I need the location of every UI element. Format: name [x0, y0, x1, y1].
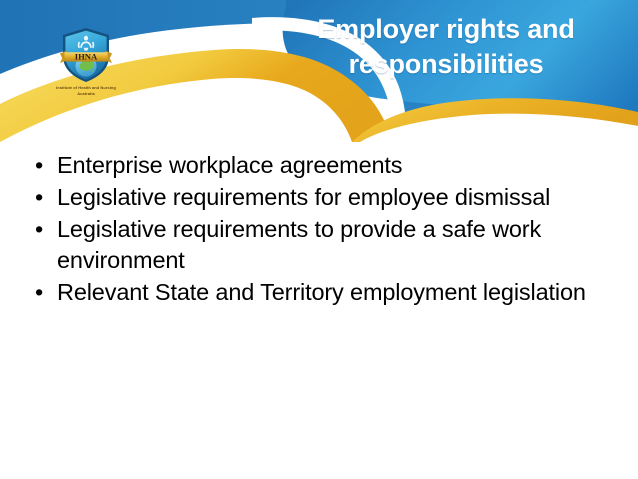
list-item: • Legislative requirements to provide a …: [28, 214, 618, 276]
bullet-glyph: •: [35, 150, 43, 181]
ihna-logo: IHNA Institute of Health and Nursing Aus…: [47, 26, 125, 102]
list-item: • Legislative requirements for employee …: [28, 182, 618, 213]
slide-body: • Enterprise workplace agreements • Legi…: [28, 150, 618, 309]
list-item-label: Enterprise workplace agreements: [57, 152, 402, 178]
list-item-label: Legislative requirements to provide a sa…: [57, 216, 541, 273]
list-item: • Relevant State and Territory employmen…: [28, 277, 618, 308]
bullet-list: • Enterprise workplace agreements • Legi…: [28, 150, 618, 308]
page-title: Employer rights and responsibilities: [268, 12, 624, 81]
presentation-slide: IHNA Institute of Health and Nursing Aus…: [0, 0, 638, 479]
bullet-glyph: •: [35, 214, 43, 245]
list-item-label: Legislative requirements for employee di…: [57, 184, 550, 210]
list-item: • Enterprise workplace agreements: [28, 150, 618, 181]
shield-icon: IHNA: [57, 26, 115, 84]
bullet-glyph: •: [35, 182, 43, 213]
list-item-label: Relevant State and Territory employment …: [57, 279, 586, 305]
logo-caption: Institute of Health and Nursing Australi…: [47, 85, 125, 97]
bullet-glyph: •: [35, 277, 43, 308]
logo-banner-text: IHNA: [75, 52, 98, 62]
logo-shield-mark: IHNA: [57, 26, 115, 84]
